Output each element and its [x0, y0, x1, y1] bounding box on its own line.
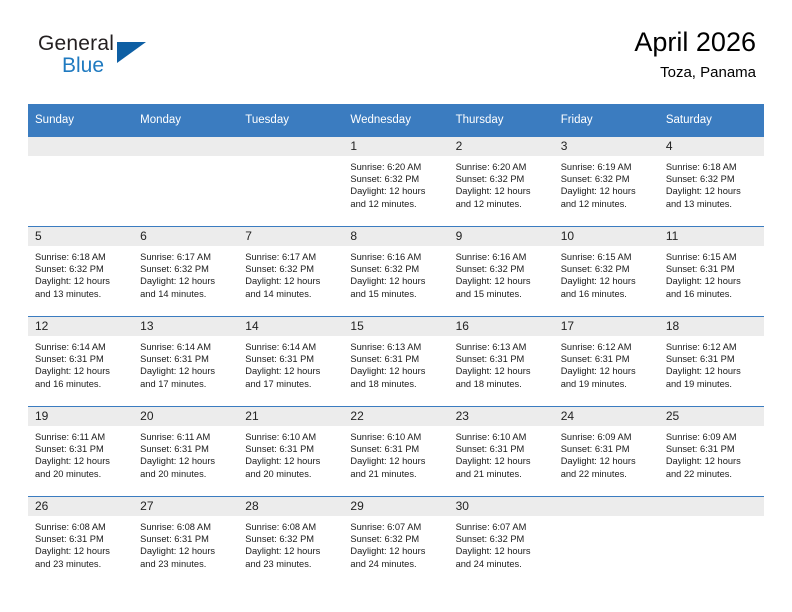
day-details: Sunrise: 6:13 AMSunset: 6:31 PMDaylight:…	[343, 336, 448, 390]
sunset-text: Sunset: 6:31 PM	[245, 443, 337, 455]
sunrise-text: Sunrise: 6:14 AM	[245, 341, 337, 353]
sunrise-text: Sunrise: 6:07 AM	[350, 521, 442, 533]
sunset-text: Sunset: 6:32 PM	[666, 173, 758, 185]
day-number: 14	[238, 317, 343, 336]
day-number-band: 6	[133, 227, 238, 246]
day-number: 2	[449, 137, 554, 156]
daylight-text-line2: and 13 minutes.	[35, 288, 127, 300]
title-block: April 2026 Toza, Panama	[634, 26, 756, 84]
calendar-day-cell[interactable]: 20Sunrise: 6:11 AMSunset: 6:31 PMDayligh…	[133, 406, 238, 496]
daylight-text-line1: Daylight: 12 hours	[350, 455, 442, 467]
calendar-day-cell[interactable]: 25Sunrise: 6:09 AMSunset: 6:31 PMDayligh…	[659, 406, 764, 496]
day-cell-content: 11Sunrise: 6:15 AMSunset: 6:31 PMDayligh…	[659, 226, 764, 316]
day-number-band: 26	[28, 497, 133, 516]
daylight-text-line2: and 17 minutes.	[140, 378, 232, 390]
daylight-text-line2: and 22 minutes.	[666, 468, 758, 480]
daylight-text-line1: Daylight: 12 hours	[140, 455, 232, 467]
sunrise-text: Sunrise: 6:08 AM	[35, 521, 127, 533]
calendar-day-cell[interactable]: 11Sunrise: 6:15 AMSunset: 6:31 PMDayligh…	[659, 226, 764, 316]
day-number: 10	[554, 227, 659, 246]
day-number: 13	[133, 317, 238, 336]
calendar-week-row: 5Sunrise: 6:18 AMSunset: 6:32 PMDaylight…	[28, 226, 764, 316]
sunset-text: Sunset: 6:31 PM	[245, 353, 337, 365]
day-number: 15	[343, 317, 448, 336]
calendar-day-cell[interactable]: 17Sunrise: 6:12 AMSunset: 6:31 PMDayligh…	[554, 316, 659, 406]
daylight-text-line2: and 21 minutes.	[456, 468, 548, 480]
day-cell-content: 23Sunrise: 6:10 AMSunset: 6:31 PMDayligh…	[449, 406, 554, 496]
day-number: 26	[28, 497, 133, 516]
daylight-text-line1: Daylight: 12 hours	[456, 455, 548, 467]
daylight-text-line2: and 12 minutes.	[456, 198, 548, 210]
daylight-text-line1: Daylight: 12 hours	[561, 455, 653, 467]
day-details: Sunrise: 6:09 AMSunset: 6:31 PMDaylight:…	[554, 426, 659, 480]
calendar-day-cell[interactable]: 24Sunrise: 6:09 AMSunset: 6:31 PMDayligh…	[554, 406, 659, 496]
day-number: 28	[238, 497, 343, 516]
day-number-band: 28	[238, 497, 343, 516]
daylight-text-line1: Daylight: 12 hours	[140, 275, 232, 287]
day-number: 19	[28, 407, 133, 426]
day-number: 1	[343, 137, 448, 156]
day-cell-content: 26Sunrise: 6:08 AMSunset: 6:31 PMDayligh…	[28, 496, 133, 586]
sunrise-text: Sunrise: 6:15 AM	[666, 251, 758, 263]
calendar-day-cell[interactable]: 23Sunrise: 6:10 AMSunset: 6:31 PMDayligh…	[449, 406, 554, 496]
calendar-day-cell[interactable]: 4Sunrise: 6:18 AMSunset: 6:32 PMDaylight…	[659, 136, 764, 226]
day-details: Sunrise: 6:17 AMSunset: 6:32 PMDaylight:…	[238, 246, 343, 300]
day-number-band: 13	[133, 317, 238, 336]
calendar-day-cell[interactable]: 12Sunrise: 6:14 AMSunset: 6:31 PMDayligh…	[28, 316, 133, 406]
day-details: Sunrise: 6:13 AMSunset: 6:31 PMDaylight:…	[449, 336, 554, 390]
calendar-day-cell[interactable]: 21Sunrise: 6:10 AMSunset: 6:31 PMDayligh…	[238, 406, 343, 496]
sunrise-text: Sunrise: 6:16 AM	[456, 251, 548, 263]
day-number-band: 11	[659, 227, 764, 246]
sunrise-text: Sunrise: 6:14 AM	[35, 341, 127, 353]
sunset-text: Sunset: 6:32 PM	[561, 263, 653, 275]
daylight-text-line1: Daylight: 12 hours	[456, 185, 548, 197]
calendar-day-cell[interactable]: 22Sunrise: 6:10 AMSunset: 6:31 PMDayligh…	[343, 406, 448, 496]
daylight-text-line2: and 15 minutes.	[456, 288, 548, 300]
sunrise-text: Sunrise: 6:16 AM	[350, 251, 442, 263]
sunset-text: Sunset: 6:32 PM	[456, 533, 548, 545]
day-number-band: 30	[449, 497, 554, 516]
sunset-text: Sunset: 6:32 PM	[456, 173, 548, 185]
day-details: Sunrise: 6:11 AMSunset: 6:31 PMDaylight:…	[28, 426, 133, 480]
day-cell-content: 4Sunrise: 6:18 AMSunset: 6:32 PMDaylight…	[659, 136, 764, 226]
calendar-day-cell[interactable]: 3Sunrise: 6:19 AMSunset: 6:32 PMDaylight…	[554, 136, 659, 226]
calendar-day-cell[interactable]	[659, 496, 764, 586]
daylight-text-line1: Daylight: 12 hours	[561, 185, 653, 197]
sunset-text: Sunset: 6:31 PM	[35, 443, 127, 455]
sunrise-text: Sunrise: 6:20 AM	[350, 161, 442, 173]
day-number: 24	[554, 407, 659, 426]
daylight-text-line2: and 24 minutes.	[456, 558, 548, 570]
daylight-text-line1: Daylight: 12 hours	[35, 455, 127, 467]
day-cell-content: 17Sunrise: 6:12 AMSunset: 6:31 PMDayligh…	[554, 316, 659, 406]
sunset-text: Sunset: 6:31 PM	[35, 353, 127, 365]
daylight-text-line2: and 22 minutes.	[561, 468, 653, 480]
day-details: Sunrise: 6:08 AMSunset: 6:32 PMDaylight:…	[238, 516, 343, 570]
daylight-text-line1: Daylight: 12 hours	[456, 275, 548, 287]
day-cell-content: 16Sunrise: 6:13 AMSunset: 6:31 PMDayligh…	[449, 316, 554, 406]
calendar-table: Sunday Monday Tuesday Wednesday Thursday…	[28, 104, 764, 586]
day-details: Sunrise: 6:07 AMSunset: 6:32 PMDaylight:…	[343, 516, 448, 570]
day-cell-content: 13Sunrise: 6:14 AMSunset: 6:31 PMDayligh…	[133, 316, 238, 406]
day-number: 7	[238, 227, 343, 246]
daylight-text-line2: and 14 minutes.	[245, 288, 337, 300]
day-number-band: 24	[554, 407, 659, 426]
calendar-day-cell[interactable]: 1Sunrise: 6:20 AMSunset: 6:32 PMDaylight…	[343, 136, 448, 226]
calendar-day-cell[interactable]: 9Sunrise: 6:16 AMSunset: 6:32 PMDaylight…	[449, 226, 554, 316]
daylight-text-line2: and 16 minutes.	[35, 378, 127, 390]
day-details: Sunrise: 6:08 AMSunset: 6:31 PMDaylight:…	[133, 516, 238, 570]
calendar-page: General Blue April 2026 Toza, Panama Sun…	[0, 0, 792, 612]
day-cell-content: 12Sunrise: 6:14 AMSunset: 6:31 PMDayligh…	[28, 316, 133, 406]
day-number: 8	[343, 227, 448, 246]
day-number: 20	[133, 407, 238, 426]
day-number-band: 15	[343, 317, 448, 336]
calendar-day-cell[interactable]	[28, 136, 133, 226]
sunrise-text: Sunrise: 6:18 AM	[666, 161, 758, 173]
sunset-text: Sunset: 6:32 PM	[561, 173, 653, 185]
sunrise-text: Sunrise: 6:15 AM	[561, 251, 653, 263]
daylight-text-line2: and 16 minutes.	[561, 288, 653, 300]
day-details: Sunrise: 6:16 AMSunset: 6:32 PMDaylight:…	[343, 246, 448, 300]
page-header: General Blue April 2026 Toza, Panama	[28, 26, 764, 98]
daylight-text-line1: Daylight: 12 hours	[350, 545, 442, 557]
sunset-text: Sunset: 6:31 PM	[350, 443, 442, 455]
calendar-day-cell[interactable]: 5Sunrise: 6:18 AMSunset: 6:32 PMDaylight…	[28, 226, 133, 316]
daylight-text-line2: and 23 minutes.	[245, 558, 337, 570]
daylight-text-line2: and 18 minutes.	[456, 378, 548, 390]
weekday-header-monday: Monday	[133, 104, 238, 136]
day-number: 12	[28, 317, 133, 336]
sunset-text: Sunset: 6:32 PM	[350, 533, 442, 545]
day-number-band: 17	[554, 317, 659, 336]
day-number: 17	[554, 317, 659, 336]
day-number-band: 7	[238, 227, 343, 246]
sunset-text: Sunset: 6:31 PM	[140, 443, 232, 455]
sunset-text: Sunset: 6:31 PM	[666, 263, 758, 275]
sunset-text: Sunset: 6:31 PM	[666, 443, 758, 455]
day-number-band: 22	[343, 407, 448, 426]
location-subtitle: Toza, Panama	[634, 62, 756, 84]
daylight-text-line1: Daylight: 12 hours	[666, 275, 758, 287]
day-cell-content: 30Sunrise: 6:07 AMSunset: 6:32 PMDayligh…	[449, 496, 554, 586]
sunrise-text: Sunrise: 6:17 AM	[245, 251, 337, 263]
sunrise-text: Sunrise: 6:19 AM	[561, 161, 653, 173]
day-number-band: 20	[133, 407, 238, 426]
calendar-week-row: 1Sunrise: 6:20 AMSunset: 6:32 PMDaylight…	[28, 136, 764, 226]
sunrise-text: Sunrise: 6:20 AM	[456, 161, 548, 173]
day-details: Sunrise: 6:18 AMSunset: 6:32 PMDaylight:…	[28, 246, 133, 300]
daylight-text-line2: and 23 minutes.	[35, 558, 127, 570]
sunrise-text: Sunrise: 6:11 AM	[35, 431, 127, 443]
sunset-text: Sunset: 6:32 PM	[245, 533, 337, 545]
day-cell-content: 20Sunrise: 6:11 AMSunset: 6:31 PMDayligh…	[133, 406, 238, 496]
day-number-band: 19	[28, 407, 133, 426]
daylight-text-line1: Daylight: 12 hours	[245, 275, 337, 287]
day-details: Sunrise: 6:19 AMSunset: 6:32 PMDaylight:…	[554, 156, 659, 210]
day-number-band	[238, 137, 343, 156]
day-number-band	[133, 137, 238, 156]
sunset-text: Sunset: 6:32 PM	[456, 263, 548, 275]
sunset-text: Sunset: 6:31 PM	[350, 353, 442, 365]
day-number-band: 9	[449, 227, 554, 246]
day-number-band: 25	[659, 407, 764, 426]
daylight-text-line2: and 13 minutes.	[666, 198, 758, 210]
day-number: 11	[659, 227, 764, 246]
calendar-day-cell[interactable]	[554, 496, 659, 586]
day-number: 3	[554, 137, 659, 156]
daylight-text-line1: Daylight: 12 hours	[245, 455, 337, 467]
weekday-header-friday: Friday	[554, 104, 659, 136]
day-number-band	[554, 497, 659, 516]
daylight-text-line2: and 12 minutes.	[561, 198, 653, 210]
sunset-text: Sunset: 6:31 PM	[456, 443, 548, 455]
sunrise-text: Sunrise: 6:12 AM	[561, 341, 653, 353]
sunset-text: Sunset: 6:32 PM	[35, 263, 127, 275]
day-number: 27	[133, 497, 238, 516]
daylight-text-line1: Daylight: 12 hours	[456, 545, 548, 557]
daylight-text-line1: Daylight: 12 hours	[666, 365, 758, 377]
sunset-text: Sunset: 6:32 PM	[350, 263, 442, 275]
daylight-text-line1: Daylight: 12 hours	[561, 365, 653, 377]
weekday-header-thursday: Thursday	[449, 104, 554, 136]
calendar-day-cell[interactable]: 6Sunrise: 6:17 AMSunset: 6:32 PMDaylight…	[133, 226, 238, 316]
day-number: 21	[238, 407, 343, 426]
daylight-text-line1: Daylight: 12 hours	[666, 185, 758, 197]
calendar-day-cell[interactable]: 13Sunrise: 6:14 AMSunset: 6:31 PMDayligh…	[133, 316, 238, 406]
sunset-text: Sunset: 6:31 PM	[140, 533, 232, 545]
day-number-band: 1	[343, 137, 448, 156]
sunrise-text: Sunrise: 6:07 AM	[456, 521, 548, 533]
day-details: Sunrise: 6:20 AMSunset: 6:32 PMDaylight:…	[343, 156, 448, 210]
sunset-text: Sunset: 6:32 PM	[350, 173, 442, 185]
sunrise-text: Sunrise: 6:13 AM	[350, 341, 442, 353]
sunset-text: Sunset: 6:31 PM	[561, 443, 653, 455]
calendar-day-cell[interactable]: 2Sunrise: 6:20 AMSunset: 6:32 PMDaylight…	[449, 136, 554, 226]
calendar-day-cell[interactable]	[238, 136, 343, 226]
day-details	[28, 156, 133, 161]
sunset-text: Sunset: 6:31 PM	[666, 353, 758, 365]
general-blue-logo: General Blue	[38, 32, 158, 88]
sunset-text: Sunset: 6:32 PM	[140, 263, 232, 275]
calendar-body: 1Sunrise: 6:20 AMSunset: 6:32 PMDaylight…	[28, 136, 764, 586]
day-number-band: 3	[554, 137, 659, 156]
day-cell-content: 8Sunrise: 6:16 AMSunset: 6:32 PMDaylight…	[343, 226, 448, 316]
day-cell-empty	[238, 136, 343, 226]
sunset-text: Sunset: 6:31 PM	[561, 353, 653, 365]
sunrise-text: Sunrise: 6:10 AM	[245, 431, 337, 443]
day-number-band	[28, 137, 133, 156]
daylight-text-line2: and 19 minutes.	[561, 378, 653, 390]
calendar-day-cell[interactable]	[133, 136, 238, 226]
day-cell-content: 14Sunrise: 6:14 AMSunset: 6:31 PMDayligh…	[238, 316, 343, 406]
daylight-text-line1: Daylight: 12 hours	[350, 185, 442, 197]
day-cell-content: 2Sunrise: 6:20 AMSunset: 6:32 PMDaylight…	[449, 136, 554, 226]
day-number-band	[659, 497, 764, 516]
daylight-text-line1: Daylight: 12 hours	[350, 275, 442, 287]
day-number-band: 4	[659, 137, 764, 156]
daylight-text-line1: Daylight: 12 hours	[35, 275, 127, 287]
day-cell-content: 18Sunrise: 6:12 AMSunset: 6:31 PMDayligh…	[659, 316, 764, 406]
day-cell-content: 21Sunrise: 6:10 AMSunset: 6:31 PMDayligh…	[238, 406, 343, 496]
day-number-band: 27	[133, 497, 238, 516]
calendar-day-cell[interactable]: 14Sunrise: 6:14 AMSunset: 6:31 PMDayligh…	[238, 316, 343, 406]
calendar-day-cell[interactable]: 8Sunrise: 6:16 AMSunset: 6:32 PMDaylight…	[343, 226, 448, 316]
calendar-day-cell[interactable]: 7Sunrise: 6:17 AMSunset: 6:32 PMDaylight…	[238, 226, 343, 316]
day-number: 23	[449, 407, 554, 426]
weekday-header-sunday: Sunday	[28, 104, 133, 136]
calendar-day-cell[interactable]: 30Sunrise: 6:07 AMSunset: 6:32 PMDayligh…	[449, 496, 554, 586]
daylight-text-line2: and 17 minutes.	[245, 378, 337, 390]
daylight-text-line2: and 20 minutes.	[140, 468, 232, 480]
day-details: Sunrise: 6:12 AMSunset: 6:31 PMDaylight:…	[659, 336, 764, 390]
day-number-band: 8	[343, 227, 448, 246]
day-details: Sunrise: 6:14 AMSunset: 6:31 PMDaylight:…	[238, 336, 343, 390]
sunset-text: Sunset: 6:31 PM	[456, 353, 548, 365]
daylight-text-line1: Daylight: 12 hours	[350, 365, 442, 377]
sunrise-text: Sunrise: 6:17 AM	[140, 251, 232, 263]
day-details	[554, 516, 659, 521]
daylight-text-line1: Daylight: 12 hours	[456, 365, 548, 377]
sunrise-text: Sunrise: 6:18 AM	[35, 251, 127, 263]
calendar-day-cell[interactable]: 27Sunrise: 6:08 AMSunset: 6:31 PMDayligh…	[133, 496, 238, 586]
day-number-band: 23	[449, 407, 554, 426]
sunset-text: Sunset: 6:32 PM	[245, 263, 337, 275]
day-details: Sunrise: 6:10 AMSunset: 6:31 PMDaylight:…	[343, 426, 448, 480]
day-details	[133, 156, 238, 161]
day-details: Sunrise: 6:12 AMSunset: 6:31 PMDaylight:…	[554, 336, 659, 390]
sunrise-text: Sunrise: 6:13 AM	[456, 341, 548, 353]
sunset-text: Sunset: 6:31 PM	[35, 533, 127, 545]
sunrise-text: Sunrise: 6:10 AM	[350, 431, 442, 443]
day-details: Sunrise: 6:20 AMSunset: 6:32 PMDaylight:…	[449, 156, 554, 210]
logo-text-general: General	[38, 32, 114, 56]
day-details: Sunrise: 6:14 AMSunset: 6:31 PMDaylight:…	[28, 336, 133, 390]
day-details	[238, 156, 343, 161]
daylight-text-line2: and 14 minutes.	[140, 288, 232, 300]
day-number: 18	[659, 317, 764, 336]
day-cell-content: 10Sunrise: 6:15 AMSunset: 6:32 PMDayligh…	[554, 226, 659, 316]
logo-text-blue: Blue	[62, 54, 104, 78]
day-number-band: 10	[554, 227, 659, 246]
sunrise-text: Sunrise: 6:10 AM	[456, 431, 548, 443]
day-cell-content: 27Sunrise: 6:08 AMSunset: 6:31 PMDayligh…	[133, 496, 238, 586]
day-number-band: 21	[238, 407, 343, 426]
day-number-band: 29	[343, 497, 448, 516]
day-number: 5	[28, 227, 133, 246]
day-cell-empty	[659, 496, 764, 586]
day-cell-content: 24Sunrise: 6:09 AMSunset: 6:31 PMDayligh…	[554, 406, 659, 496]
page-title: April 2026	[634, 26, 756, 58]
day-details: Sunrise: 6:11 AMSunset: 6:31 PMDaylight:…	[133, 426, 238, 480]
day-cell-content: 25Sunrise: 6:09 AMSunset: 6:31 PMDayligh…	[659, 406, 764, 496]
day-cell-empty	[554, 496, 659, 586]
sunrise-text: Sunrise: 6:11 AM	[140, 431, 232, 443]
daylight-text-line1: Daylight: 12 hours	[140, 545, 232, 557]
calendar-day-cell[interactable]: 28Sunrise: 6:08 AMSunset: 6:32 PMDayligh…	[238, 496, 343, 586]
day-number: 6	[133, 227, 238, 246]
calendar-day-cell[interactable]: 15Sunrise: 6:13 AMSunset: 6:31 PMDayligh…	[343, 316, 448, 406]
weekday-header-wednesday: Wednesday	[343, 104, 448, 136]
sunrise-text: Sunrise: 6:09 AM	[561, 431, 653, 443]
day-cell-content: 15Sunrise: 6:13 AMSunset: 6:31 PMDayligh…	[343, 316, 448, 406]
day-details: Sunrise: 6:08 AMSunset: 6:31 PMDaylight:…	[28, 516, 133, 570]
day-number-band: 5	[28, 227, 133, 246]
calendar-week-row: 26Sunrise: 6:08 AMSunset: 6:31 PMDayligh…	[28, 496, 764, 586]
day-cell-content: 5Sunrise: 6:18 AMSunset: 6:32 PMDaylight…	[28, 226, 133, 316]
sunrise-text: Sunrise: 6:08 AM	[140, 521, 232, 533]
day-number: 4	[659, 137, 764, 156]
sunset-text: Sunset: 6:31 PM	[140, 353, 232, 365]
daylight-text-line1: Daylight: 12 hours	[245, 365, 337, 377]
daylight-text-line1: Daylight: 12 hours	[245, 545, 337, 557]
calendar-day-cell[interactable]: 19Sunrise: 6:11 AMSunset: 6:31 PMDayligh…	[28, 406, 133, 496]
weekday-header-saturday: Saturday	[659, 104, 764, 136]
day-details: Sunrise: 6:07 AMSunset: 6:32 PMDaylight:…	[449, 516, 554, 570]
day-number: 30	[449, 497, 554, 516]
sunrise-text: Sunrise: 6:09 AM	[666, 431, 758, 443]
day-number-band: 2	[449, 137, 554, 156]
day-number: 25	[659, 407, 764, 426]
daylight-text-line1: Daylight: 12 hours	[140, 365, 232, 377]
calendar-day-cell[interactable]: 16Sunrise: 6:13 AMSunset: 6:31 PMDayligh…	[449, 316, 554, 406]
calendar-day-cell[interactable]: 26Sunrise: 6:08 AMSunset: 6:31 PMDayligh…	[28, 496, 133, 586]
day-cell-content: 19Sunrise: 6:11 AMSunset: 6:31 PMDayligh…	[28, 406, 133, 496]
daylight-text-line1: Daylight: 12 hours	[35, 365, 127, 377]
triangle-icon	[117, 42, 146, 63]
day-number-band: 14	[238, 317, 343, 336]
day-cell-content: 28Sunrise: 6:08 AMSunset: 6:32 PMDayligh…	[238, 496, 343, 586]
daylight-text-line2: and 12 minutes.	[350, 198, 442, 210]
day-number-band: 12	[28, 317, 133, 336]
calendar-week-row: 19Sunrise: 6:11 AMSunset: 6:31 PMDayligh…	[28, 406, 764, 496]
daylight-text-line2: and 15 minutes.	[350, 288, 442, 300]
sunrise-text: Sunrise: 6:14 AM	[140, 341, 232, 353]
day-cell-content: 6Sunrise: 6:17 AMSunset: 6:32 PMDaylight…	[133, 226, 238, 316]
day-details: Sunrise: 6:17 AMSunset: 6:32 PMDaylight:…	[133, 246, 238, 300]
day-cell-empty	[133, 136, 238, 226]
day-cell-content: 22Sunrise: 6:10 AMSunset: 6:31 PMDayligh…	[343, 406, 448, 496]
daylight-text-line2: and 20 minutes.	[35, 468, 127, 480]
daylight-text-line2: and 23 minutes.	[140, 558, 232, 570]
calendar-week-row: 12Sunrise: 6:14 AMSunset: 6:31 PMDayligh…	[28, 316, 764, 406]
day-details: Sunrise: 6:10 AMSunset: 6:31 PMDaylight:…	[238, 426, 343, 480]
daylight-text-line2: and 16 minutes.	[666, 288, 758, 300]
calendar-day-cell[interactable]: 29Sunrise: 6:07 AMSunset: 6:32 PMDayligh…	[343, 496, 448, 586]
day-details: Sunrise: 6:15 AMSunset: 6:31 PMDaylight:…	[659, 246, 764, 300]
sunrise-text: Sunrise: 6:08 AM	[245, 521, 337, 533]
daylight-text-line2: and 24 minutes.	[350, 558, 442, 570]
day-cell-content: 1Sunrise: 6:20 AMSunset: 6:32 PMDaylight…	[343, 136, 448, 226]
day-number-band: 16	[449, 317, 554, 336]
weekday-header-row: Sunday Monday Tuesday Wednesday Thursday…	[28, 104, 764, 136]
day-details: Sunrise: 6:16 AMSunset: 6:32 PMDaylight:…	[449, 246, 554, 300]
daylight-text-line1: Daylight: 12 hours	[666, 455, 758, 467]
day-details: Sunrise: 6:10 AMSunset: 6:31 PMDaylight:…	[449, 426, 554, 480]
weekday-header-tuesday: Tuesday	[238, 104, 343, 136]
calendar-day-cell[interactable]: 10Sunrise: 6:15 AMSunset: 6:32 PMDayligh…	[554, 226, 659, 316]
day-number: 9	[449, 227, 554, 246]
day-number-band: 18	[659, 317, 764, 336]
day-cell-content: 29Sunrise: 6:07 AMSunset: 6:32 PMDayligh…	[343, 496, 448, 586]
day-cell-empty	[28, 136, 133, 226]
day-details	[659, 516, 764, 521]
day-details: Sunrise: 6:18 AMSunset: 6:32 PMDaylight:…	[659, 156, 764, 210]
day-number: 29	[343, 497, 448, 516]
day-number: 16	[449, 317, 554, 336]
calendar-day-cell[interactable]: 18Sunrise: 6:12 AMSunset: 6:31 PMDayligh…	[659, 316, 764, 406]
